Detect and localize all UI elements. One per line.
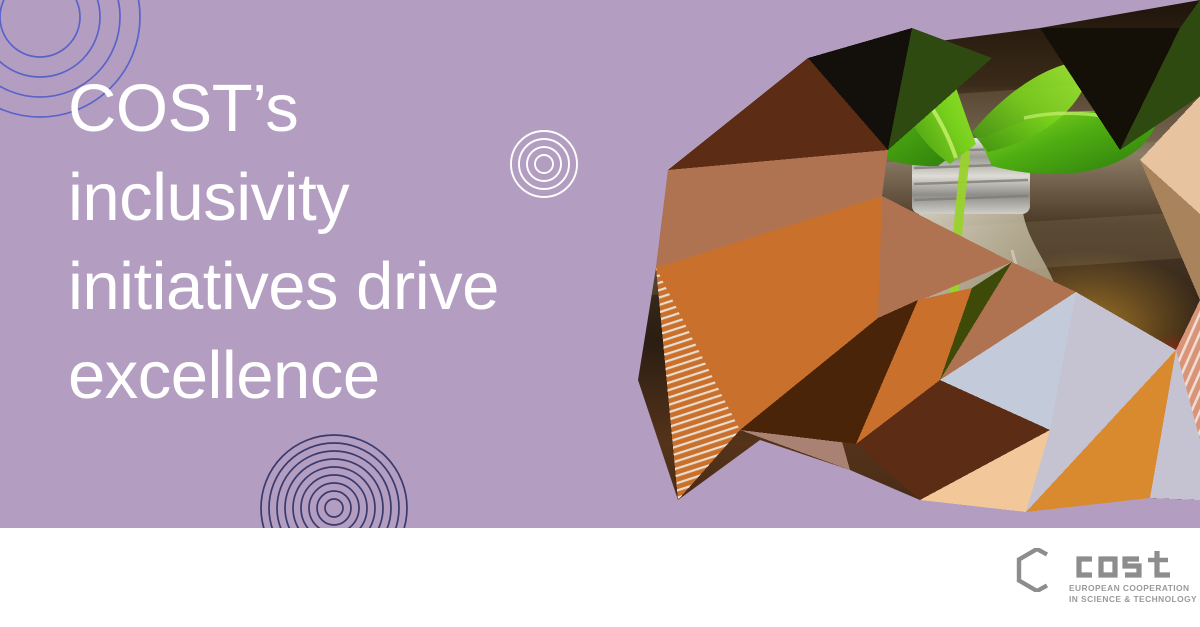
cost-tagline: EUROPEAN COOPERATION IN SCIENCE & TECHNO… bbox=[1069, 583, 1197, 606]
cost-hexagon-icon bbox=[1014, 548, 1060, 592]
cost-logo[interactable]: EUROPEAN COOPERATION IN SCIENCE & TECHNO… bbox=[1014, 548, 1197, 606]
cost-wordmark bbox=[1069, 548, 1187, 581]
page-title: COST’s inclusivity initiatives drive exc… bbox=[68, 64, 668, 420]
cost-banner: COST’s inclusivity initiatives drive exc… bbox=[0, 0, 1200, 627]
lightbulb-plant-artwork bbox=[620, 0, 1200, 528]
